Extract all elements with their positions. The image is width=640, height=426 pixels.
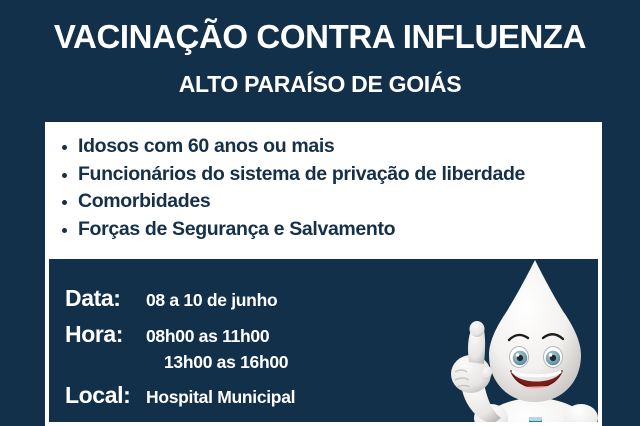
- vaccination-poster: VACINAÇÃO CONTRA INFLUENZA ALTO PARAÍSO …: [0, 0, 640, 426]
- date-label: Data:: [65, 285, 141, 312]
- list-item: Idosos com 60 anos ou mais: [57, 133, 602, 161]
- eligibility-list: Idosos com 60 anos ou mais Funcionários …: [57, 133, 602, 243]
- list-item-label: Forças de Segurança e Salvamento: [78, 218, 395, 240]
- detail-row-place: Local: Hospital Municipal: [65, 382, 295, 409]
- time-value-second: 13h00 as 16h00: [65, 352, 288, 373]
- list-item: Forças de Segurança e Salvamento: [57, 216, 602, 244]
- date-value: 08 a 10 de junho: [141, 290, 277, 311]
- time-label: Hora:: [65, 321, 141, 348]
- detail-row-date: Data: 08 a 10 de junho: [65, 285, 295, 312]
- list-item-label: Comorbidades: [78, 190, 210, 212]
- page-subtitle: ALTO PARAÍSO DE GOIÁS: [0, 71, 640, 98]
- eligibility-panel: Idosos com 60 anos ou mais Funcionários …: [45, 122, 602, 255]
- detail-row-time-second: 13h00 as 16h00: [65, 352, 295, 373]
- list-item: Funcionários do sistema de privação de l…: [57, 161, 602, 189]
- mascot-pointing-arm: [451, 321, 501, 422]
- list-item-label: Funcionários do sistema de privação de l…: [78, 163, 525, 185]
- details-panel-frame: Data: 08 a 10 de junho Hora: 08h00 as 11…: [45, 255, 602, 426]
- ze-gotinha-droplet-mascot-icon: [431, 259, 598, 422]
- details-panel: Data: 08 a 10 de junho Hora: 08h00 as 11…: [49, 259, 598, 422]
- mascot-head: [489, 260, 581, 402]
- place-value: Hospital Municipal: [141, 387, 295, 408]
- details-rows: Data: 08 a 10 de junho Hora: 08h00 as 11…: [65, 285, 295, 418]
- list-item-label: Idosos com 60 anos ou mais: [78, 135, 334, 157]
- mascot-body: [474, 398, 598, 422]
- detail-row-time: Hora: 08h00 as 11h00: [65, 321, 295, 348]
- page-title: VACINAÇÃO CONTRA INFLUENZA: [0, 18, 640, 56]
- poster-header: VACINAÇÃO CONTRA INFLUENZA ALTO PARAÍSO …: [0, 0, 640, 118]
- time-value-first: 08h00 as 11h00: [141, 326, 269, 347]
- list-item: Comorbidades: [57, 188, 602, 216]
- place-label: Local:: [65, 382, 141, 409]
